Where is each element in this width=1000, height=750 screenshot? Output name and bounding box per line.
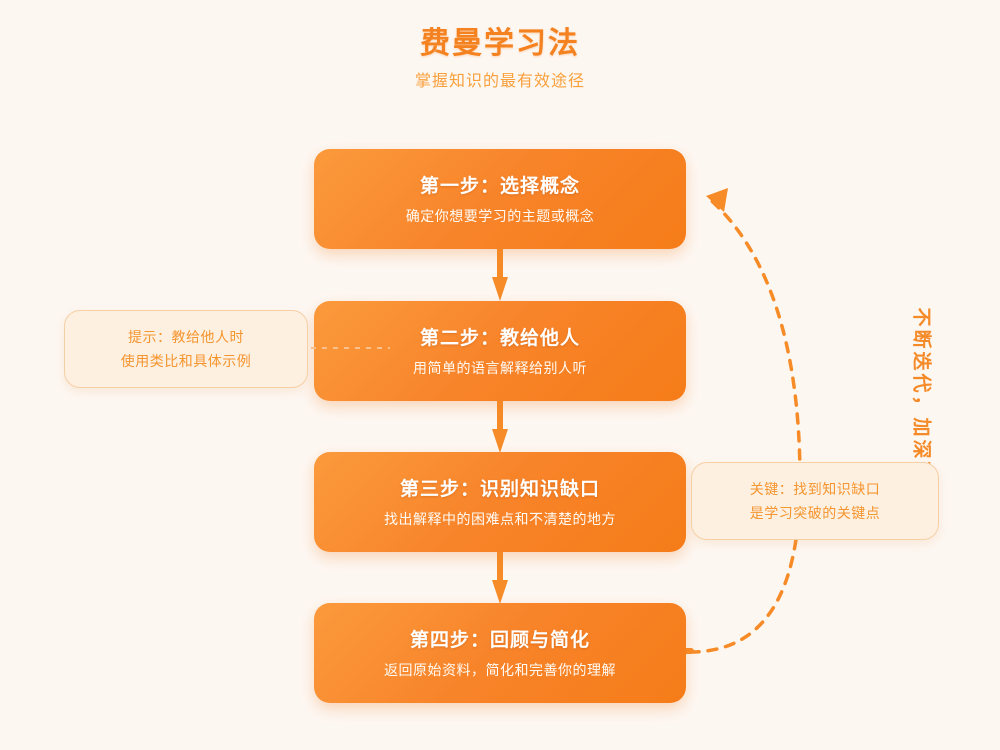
feedback-loop-path xyxy=(690,196,800,652)
arrow-step3-to-step4 xyxy=(492,552,508,604)
arrow-stem xyxy=(497,249,503,279)
step-title: 第一步：选择概念 xyxy=(314,173,686,201)
page-subtitle: 掌握知识的最有效途径 xyxy=(0,70,1000,94)
step-description: 用简单的语言解释给别人听 xyxy=(314,357,686,379)
step-description: 找出解释中的困难点和不清楚的地方 xyxy=(314,508,686,530)
step-box-2[interactable]: 第二步：教给他人 用简单的语言解释给别人听 xyxy=(314,301,686,401)
arrow-stem xyxy=(497,401,503,431)
callout-key[interactable]: 关键：找到知识缺口 是学习突破的关键点 xyxy=(691,462,939,540)
arrow-head-icon xyxy=(492,580,508,604)
callout-line-2: 使用类比和具体示例 xyxy=(65,349,307,373)
callout-line-1: 提示：教给他人时 xyxy=(65,325,307,349)
header: 费曼学习法 掌握知识的最有效途径 xyxy=(0,24,1000,94)
page-title: 费曼学习法 xyxy=(0,24,1000,64)
arrow-step2-to-step3 xyxy=(492,401,508,453)
callout-left-connector xyxy=(300,347,390,349)
step-title: 第四步：回顾与简化 xyxy=(314,627,686,655)
feedback-loop-arrowhead xyxy=(706,188,728,212)
step-box-4[interactable]: 第四步：回顾与简化 返回原始资料，简化和完善你的理解 xyxy=(314,603,686,703)
step-box-3[interactable]: 第三步：识别知识缺口 找出解释中的困难点和不清楚的地方 xyxy=(314,452,686,552)
arrow-step1-to-step2 xyxy=(492,249,508,301)
step-box-1[interactable]: 第一步：选择概念 确定你想要学习的主题或概念 xyxy=(314,149,686,249)
callout-tip[interactable]: 提示：教给他人时 使用类比和具体示例 xyxy=(64,310,308,388)
arrow-head-icon xyxy=(492,277,508,301)
infographic-canvas: 费曼学习法 掌握知识的最有效途径 不断迭代，加深理解 第一步：选择概念 确定你想… xyxy=(0,0,1000,750)
callout-line-2: 是学习突破的关键点 xyxy=(692,501,938,525)
step-title: 第三步：识别知识缺口 xyxy=(314,476,686,504)
step-description: 确定你想要学习的主题或概念 xyxy=(314,205,686,227)
callout-line-1: 关键：找到知识缺口 xyxy=(692,477,938,501)
arrow-stem xyxy=(497,552,503,582)
arrow-head-icon xyxy=(492,429,508,453)
step-description: 返回原始资料，简化和完善你的理解 xyxy=(314,659,686,681)
